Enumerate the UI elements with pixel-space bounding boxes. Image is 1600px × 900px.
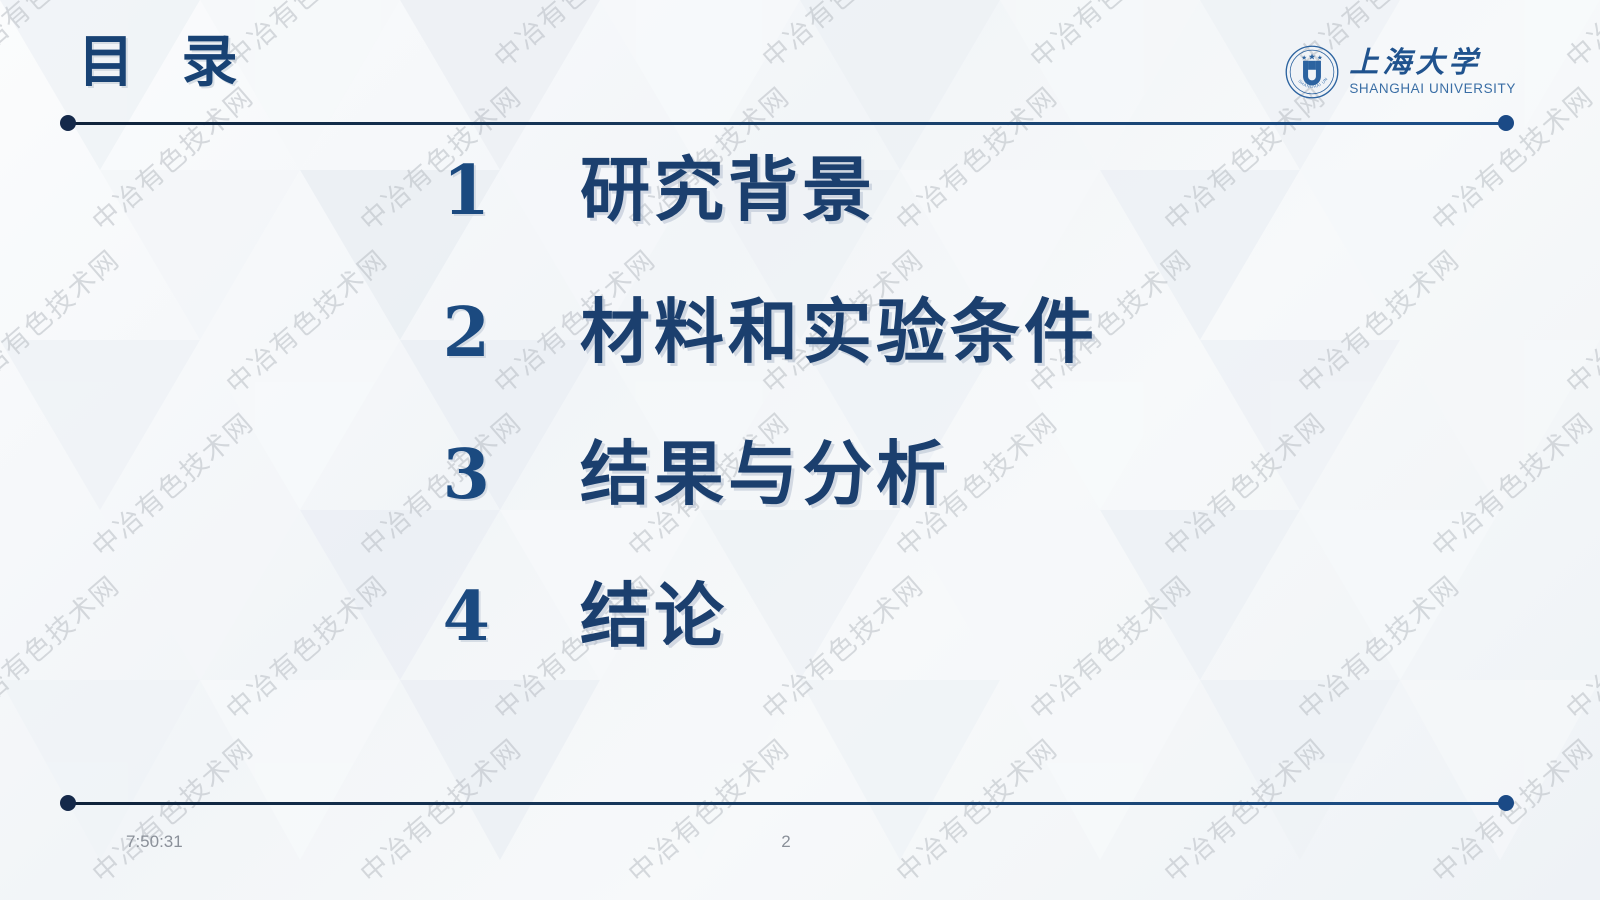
footer-page-number: 2 xyxy=(0,832,1572,852)
toc-item-1[interactable]: 1 研究背景 xyxy=(0,155,1600,297)
toc-item-label: 结论 xyxy=(580,581,728,651)
footer-divider-dot-right xyxy=(1498,795,1514,811)
toc-item-number: 4 xyxy=(0,583,490,651)
footer-divider-line xyxy=(68,802,1506,805)
logo-name-cn: 上海大学 xyxy=(1349,48,1516,77)
toc-item-number: 1 xyxy=(0,157,490,225)
footer-divider-dot-left xyxy=(60,795,76,811)
toc-item-2[interactable]: 2 材料和实验条件 xyxy=(0,297,1600,439)
toc-item-4[interactable]: 4 结论 xyxy=(0,581,1600,723)
table-of-contents: 1 研究背景 2 材料和实验条件 3 结果与分析 4 结论 xyxy=(0,155,1600,723)
slide-canvas: 中冶有色技术网中冶有色技术网中冶有色技术网中冶有色技术网中冶有色技术网中冶有色技… xyxy=(0,0,1600,900)
header-divider-dot-left xyxy=(60,115,76,131)
toc-item-label: 研究背景 xyxy=(580,155,876,225)
toc-item-3[interactable]: 3 结果与分析 xyxy=(0,439,1600,581)
logo-name-en: SHANGHAI UNIVERSITY xyxy=(1349,82,1516,96)
university-logo: SHANGHAI UNIVERSITY 上海大学 SHANGHAI UNIVER… xyxy=(1284,44,1516,100)
shanghai-university-seal-icon: SHANGHAI UNIVERSITY xyxy=(1284,44,1340,100)
toc-item-label: 材料和实验条件 xyxy=(580,297,1098,367)
toc-item-number: 3 xyxy=(0,441,490,509)
toc-item-label: 结果与分析 xyxy=(580,439,950,509)
page-title: 目 录 xyxy=(78,34,252,90)
toc-item-number: 2 xyxy=(0,299,490,367)
header-divider-line xyxy=(68,122,1506,125)
header-divider-dot-right xyxy=(1498,115,1514,131)
